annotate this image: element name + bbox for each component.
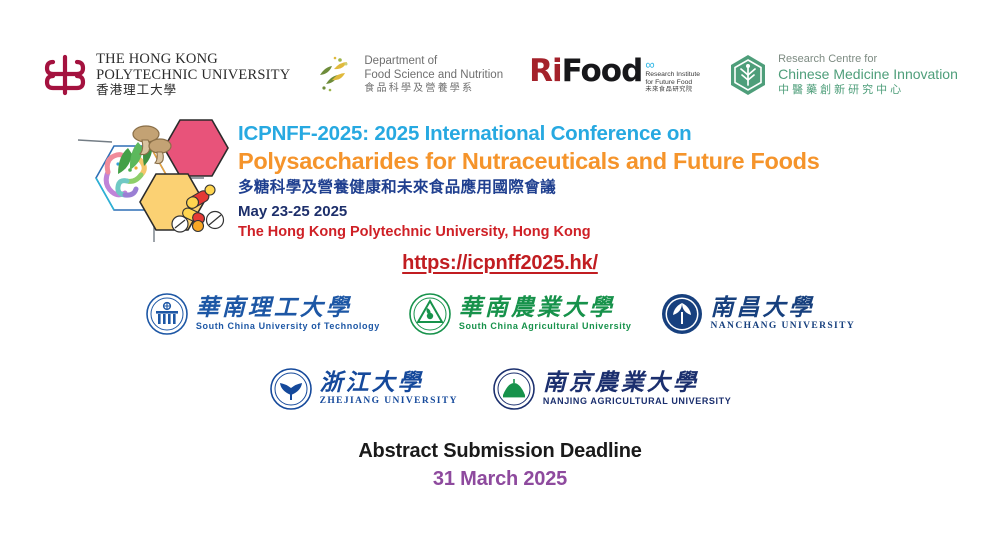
conference-title-line1: ICPNFF-2025: 2025 International Conferen… — [238, 122, 958, 146]
partner-logos-row-1: 華南理工大學 South China University of Technol… — [0, 292, 1000, 336]
scau-wordmark: 華南農業大學 South China Agricultural Universi… — [459, 296, 632, 332]
infinity-icon: ∞ — [645, 58, 700, 71]
logo-zju: 浙江大學 ZHEJIANG UNIVERSITY — [269, 367, 458, 411]
rifood-food-text: Food — [562, 53, 643, 89]
conference-website-link[interactable]: https://icpnff2025.hk/ — [402, 252, 598, 274]
website-row: https://icpnff2025.hk/ — [0, 252, 1000, 275]
organizer-logo-bar: THE HONG KONG POLYTECHNIC UNIVERSITY 香港理… — [0, 40, 1000, 110]
polyu-knot-emblem-icon — [42, 52, 88, 98]
scut-name-english: South China University of Technology — [196, 322, 380, 331]
fsn-line3-chinese: 食品科學及營養學系 — [364, 83, 503, 95]
zju-university-seal-icon — [269, 367, 313, 411]
rifood-sub3-chinese: 未來食品研究院 — [645, 87, 700, 94]
fsn-line2: Food Science and Nutrition — [364, 69, 503, 83]
rifood-sub1: Research Institute — [645, 71, 700, 79]
polysaccharide-hexagon-illustration — [72, 112, 242, 252]
conference-title-line2: Polysaccharides for Nutraceuticals and F… — [238, 147, 958, 175]
njau-university-seal-icon — [492, 367, 536, 411]
polyu-line1: THE HONG KONG — [96, 52, 290, 68]
rcmi-line2: Chinese Medicine Innovation — [778, 66, 958, 83]
conference-title-block: ICPNFF-2025: 2025 International Conferen… — [238, 122, 958, 242]
hexagon-tree-icon — [726, 53, 770, 97]
partner-logos-row-2: 浙江大學 ZHEJIANG UNIVERSITY 南京農業大學 NANJING … — [0, 367, 1000, 411]
grain-dots-icon — [316, 55, 356, 95]
polyu-line2: POLYTECHNIC UNIVERSITY — [96, 68, 290, 84]
conference-title-chinese: 多糖科學及營養健康和未來食品應用國際會議 — [238, 178, 958, 198]
zju-wordmark: 浙江大學 ZHEJIANG UNIVERSITY — [320, 371, 458, 407]
scut-name-chinese: 華南理工大學 — [196, 296, 380, 320]
rifood-ri-text: Ri — [529, 53, 562, 89]
ncu-university-seal-icon — [660, 292, 704, 336]
ncu-name-english: NANCHANG UNIVERSITY — [711, 322, 856, 332]
conference-venue: The Hong Kong Polytechnic University, Ho… — [238, 223, 958, 242]
rcmi-line3-chinese: 中醫藥創新研究中心 — [778, 84, 958, 97]
logo-rifood: RiFood ∞ Research Institute for Future F… — [529, 56, 700, 93]
logo-scut: 華南理工大學 South China University of Technol… — [145, 292, 380, 336]
logo-njau: 南京農業大學 NANJING AGRICULTURAL UNIVERSITY — [492, 367, 731, 411]
polyu-line3-chinese: 香港理工大學 — [96, 84, 290, 98]
logo-scau: 華南農業大學 South China Agricultural Universi… — [408, 292, 632, 336]
njau-name-chinese: 南京農業大學 — [543, 371, 731, 395]
rcmi-wordmark: Research Centre for Chinese Medicine Inn… — [778, 53, 958, 97]
logo-ncu: 南昌大學 NANCHANG UNIVERSITY — [660, 292, 856, 336]
rifood-wordmark: RiFood — [529, 56, 642, 87]
polyu-wordmark: THE HONG KONG POLYTECHNIC UNIVERSITY 香港理… — [96, 52, 290, 98]
rcmi-line1: Research Centre for — [778, 53, 958, 66]
logo-food-science-nutrition: Department of Food Science and Nutrition… — [316, 55, 503, 96]
ncu-name-chinese: 南昌大學 — [711, 296, 856, 320]
deadline-title: Abstract Submission Deadline — [0, 440, 1000, 463]
scau-university-seal-icon — [408, 292, 452, 336]
njau-name-english: NANJING AGRICULTURAL UNIVERSITY — [543, 397, 731, 406]
fsn-wordmark: Department of Food Science and Nutrition… — [364, 55, 503, 96]
scau-name-chinese: 華南農業大學 — [459, 296, 632, 320]
logo-chinese-medicine-innovation: Research Centre for Chinese Medicine Inn… — [726, 53, 958, 97]
zju-name-chinese: 浙江大學 — [320, 371, 458, 395]
scau-name-english: South China Agricultural University — [459, 322, 632, 331]
fsn-line1: Department of — [364, 55, 503, 69]
logo-polyu: THE HONG KONG POLYTECHNIC UNIVERSITY 香港理… — [42, 52, 290, 98]
conference-poster: THE HONG KONG POLYTECHNIC UNIVERSITY 香港理… — [0, 0, 1000, 540]
scut-university-seal-icon — [145, 292, 189, 336]
njau-wordmark: 南京農業大學 NANJING AGRICULTURAL UNIVERSITY — [543, 371, 731, 407]
deadline-date: 31 March 2025 — [0, 468, 1000, 491]
conference-dates: May 23-25 2025 — [238, 202, 958, 222]
rifood-subtext: ∞ Research Institute for Future Food 未來食… — [645, 56, 700, 93]
abstract-deadline-block: Abstract Submission Deadline 31 March 20… — [0, 440, 1000, 491]
zju-name-english: ZHEJIANG UNIVERSITY — [320, 397, 458, 407]
ncu-wordmark: 南昌大學 NANCHANG UNIVERSITY — [711, 296, 856, 332]
scut-wordmark: 華南理工大學 South China University of Technol… — [196, 296, 380, 332]
